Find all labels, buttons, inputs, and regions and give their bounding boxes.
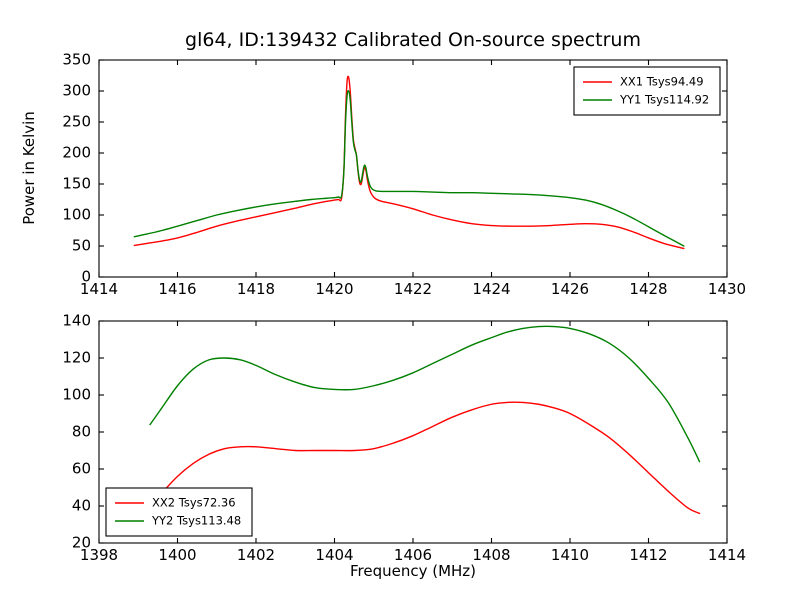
y-tick-label-bottom-4: 100 bbox=[62, 386, 91, 404]
y-axis-label: Power in Kelvin bbox=[20, 111, 38, 225]
x-tick-label-bottom-8: 1414 bbox=[708, 546, 746, 564]
x-tick-label-top-3: 1420 bbox=[315, 280, 353, 298]
y-tick-label-bottom-1: 40 bbox=[72, 497, 91, 515]
y-tick-label-top-2: 100 bbox=[62, 206, 91, 224]
x-tick-label-bottom-7: 1412 bbox=[629, 546, 667, 564]
legend-bottom: XX2 Tsys72.36YY2 Tsys113.48 bbox=[106, 488, 252, 536]
x-tick-label-top-6: 1426 bbox=[551, 280, 589, 298]
y-tick-label-top-4: 200 bbox=[62, 144, 91, 162]
x-tick-label-bottom-3: 1404 bbox=[315, 546, 353, 564]
y-tick-label-bottom-6: 140 bbox=[62, 312, 91, 330]
y-tick-label-bottom-3: 80 bbox=[72, 423, 91, 441]
legend-label-top-1: YY1 Tsys114.92 bbox=[619, 93, 709, 107]
y-tick-label-bottom-0: 20 bbox=[72, 534, 91, 552]
x-tick-label-bottom-6: 1410 bbox=[551, 546, 589, 564]
legend-label-bottom-1: YY2 Tsys113.48 bbox=[151, 514, 241, 528]
legend-label-top-0: XX1 Tsys94.49 bbox=[620, 75, 704, 89]
x-axis-label: Frequency (MHz) bbox=[350, 562, 476, 580]
x-tick-label-bottom-5: 1408 bbox=[472, 546, 510, 564]
y-tick-label-top-6: 300 bbox=[62, 82, 91, 100]
x-tick-label-top-1: 1416 bbox=[158, 280, 196, 298]
y-tick-label-top-5: 250 bbox=[62, 113, 91, 131]
y-tick-label-top-0: 0 bbox=[81, 268, 91, 286]
x-tick-label-top-5: 1424 bbox=[472, 280, 510, 298]
y-tick-label-bottom-5: 120 bbox=[62, 349, 91, 367]
legend-label-bottom-0: XX2 Tsys72.36 bbox=[152, 496, 236, 510]
x-tick-label-top-8: 1430 bbox=[708, 280, 746, 298]
series-group-bottom bbox=[150, 326, 700, 513]
panel-top: 1414141614181420142214241426142814300501… bbox=[62, 51, 746, 299]
x-tick-label-top-4: 1422 bbox=[394, 280, 432, 298]
y-tick-label-top-3: 150 bbox=[62, 175, 91, 193]
panel-bottom: 1398140014021404140614081410141214142040… bbox=[62, 312, 746, 581]
spectrum-plot: gl64, ID:139432 Calibrated On-source spe… bbox=[0, 0, 800, 600]
legend-top: XX1 Tsys94.49YY1 Tsys114.92 bbox=[574, 67, 720, 115]
figure-canvas: gl64, ID:139432 Calibrated On-source spe… bbox=[0, 0, 800, 600]
x-tick-label-bottom-2: 1402 bbox=[237, 546, 275, 564]
y-tick-label-bottom-2: 60 bbox=[72, 460, 91, 478]
x-tick-label-top-7: 1428 bbox=[629, 280, 667, 298]
figure-title: gl64, ID:139432 Calibrated On-source spe… bbox=[185, 29, 641, 51]
y-tick-label-top-1: 50 bbox=[72, 237, 91, 255]
series-line-bottom-1 bbox=[150, 326, 700, 461]
x-tick-label-top-2: 1418 bbox=[237, 280, 275, 298]
y-tick-label-top-7: 350 bbox=[62, 51, 91, 69]
x-tick-label-bottom-1: 1400 bbox=[158, 546, 196, 564]
